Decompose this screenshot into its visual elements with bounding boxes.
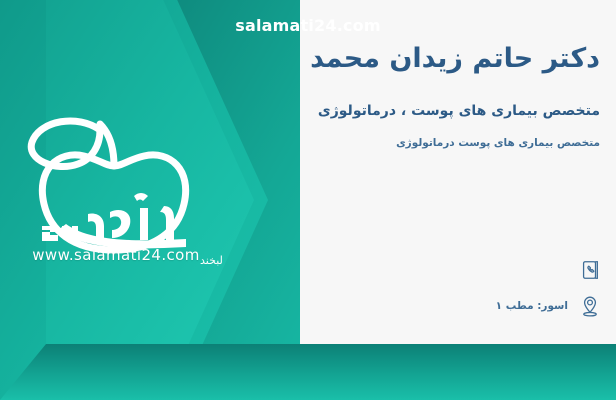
logo-website-url: www.salamati24.com [16, 246, 216, 264]
doctor-name: دکتر حاتم زیدان محمد [180, 42, 600, 76]
business-card: به راحتی یک لبخند www.salamati24.com دکت… [0, 0, 616, 400]
contact-list: اسور: مطب ۱ [344, 252, 604, 324]
footer-website: salamati24.com [0, 16, 616, 35]
contact-location-label: اسور: مطب ۱ [496, 300, 568, 312]
doctor-specialty-secondary: متخصص بیماری های پوست درماتولوژی [180, 136, 600, 151]
contact-row-phone[interactable] [344, 252, 604, 288]
location-pin-icon [576, 292, 604, 320]
phone-book-icon [576, 256, 604, 284]
footer-banner [0, 344, 616, 400]
contact-row-location[interactable]: اسور: مطب ۱ [344, 288, 604, 324]
brand-logo: به راحتی یک لبخند [14, 108, 224, 268]
doctor-specialty: متخصص بیماری های پوست ، درماتولوژی [180, 102, 600, 122]
